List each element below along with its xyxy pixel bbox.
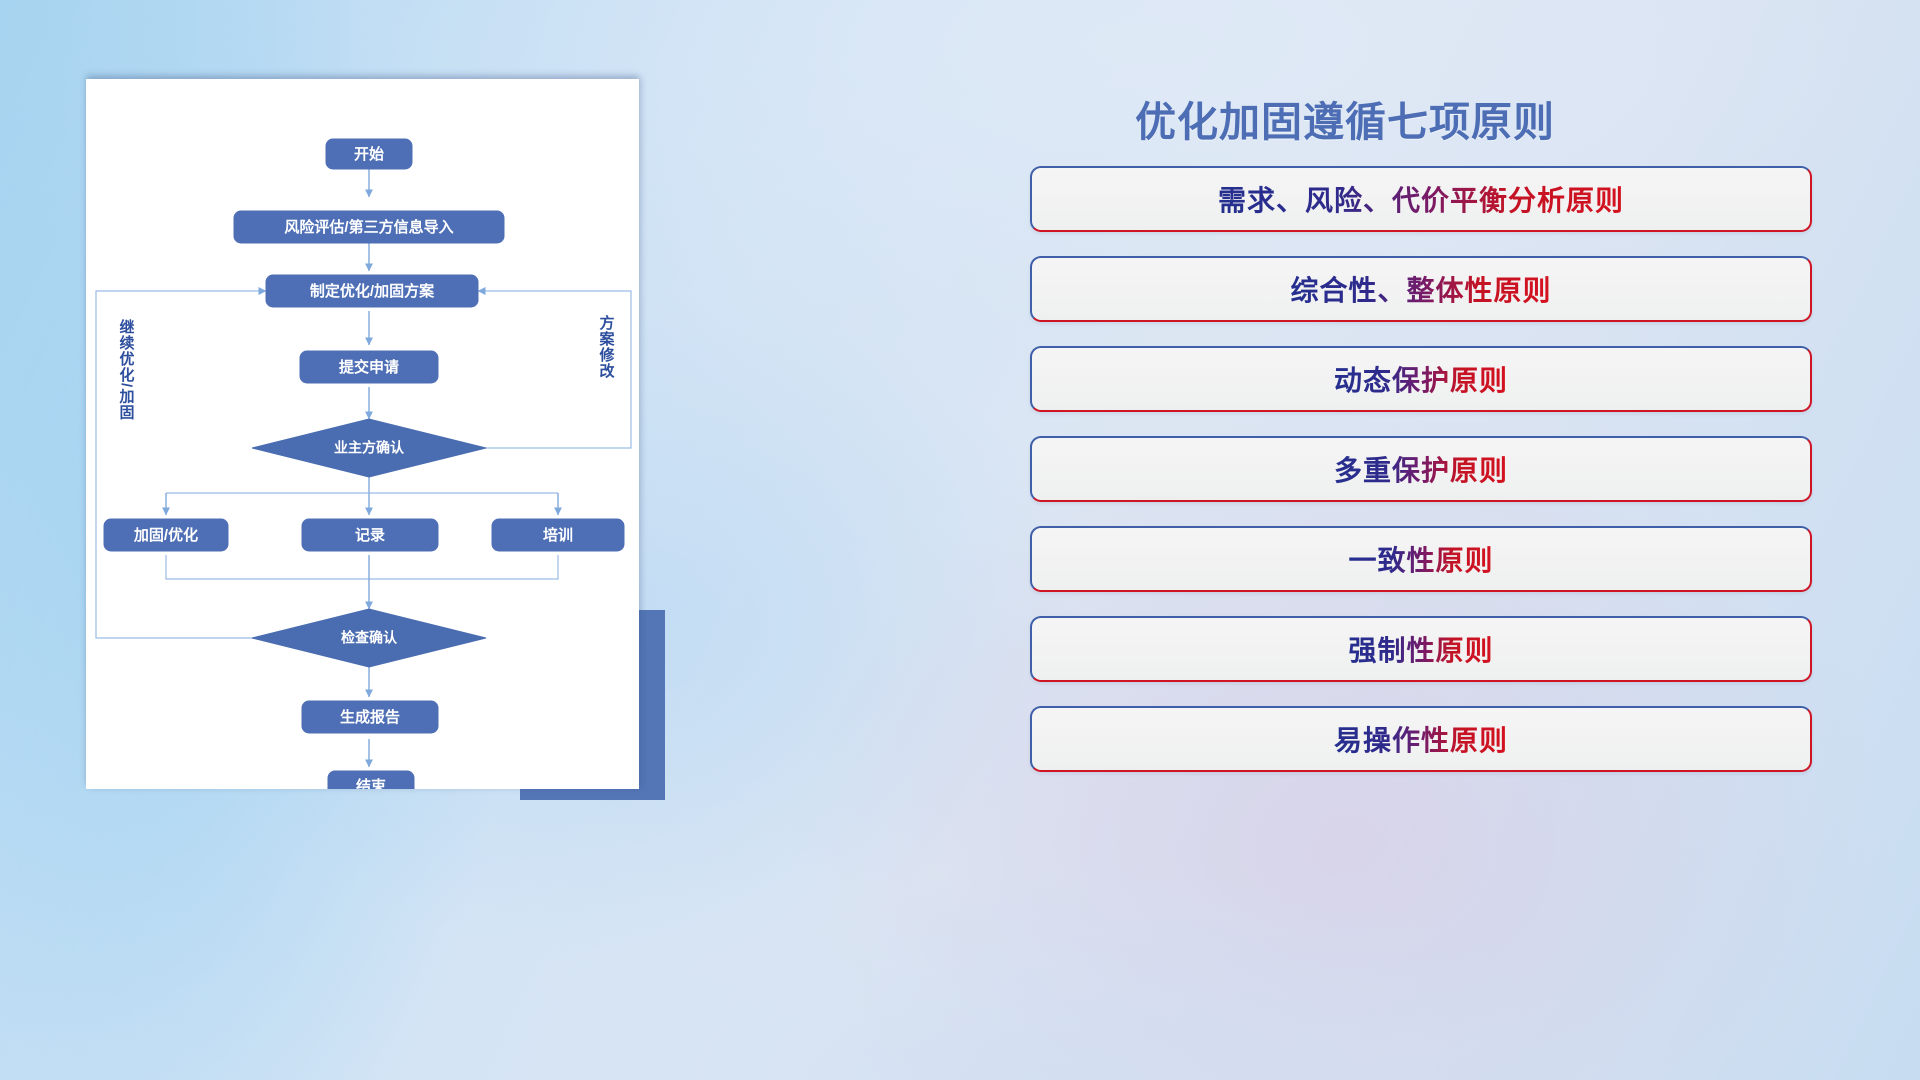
loop-label-right: 方案修改 — [598, 314, 616, 379]
principle-label: 易操作性原则 — [1334, 719, 1508, 759]
principle-card[interactable]: 易操作性原则 — [1030, 706, 1812, 772]
node-reinforce-label: 加固/优化 — [133, 526, 198, 544]
principle-card[interactable]: 一致性原则 — [1030, 526, 1812, 592]
principle-label: 强制性原则 — [1348, 629, 1493, 669]
principles-title: 优化加固遵循七项原则 — [1135, 78, 1832, 148]
node-plan-label: 制定优化/加固方案 — [310, 282, 435, 300]
principles-panel: 优化加固遵循七项原则 需求、风险、代价平衡分析原则 综合性、整体性原则 动态保护… — [1020, 78, 1832, 1018]
node-start-label: 开始 — [354, 145, 384, 163]
node-owner-confirm-label: 业主方确认 — [334, 440, 405, 456]
connector-merge-bar — [166, 555, 558, 579]
node-training-label: 培训 — [543, 526, 573, 544]
loop-label-left: 继续优化/加固 — [118, 318, 136, 420]
node-risk-label: 风险评估/第三方信息导入 — [284, 218, 453, 236]
principle-label: 多重保护原则 — [1334, 449, 1508, 489]
principles-list: 需求、风险、代价平衡分析原则 综合性、整体性原则 动态保护原则 多重保护原则 一… — [1020, 166, 1832, 772]
principle-label: 动态保护原则 — [1334, 359, 1508, 399]
principle-card[interactable]: 需求、风险、代价平衡分析原则 — [1030, 166, 1812, 232]
principle-label: 综合性、整体性原则 — [1290, 269, 1551, 309]
node-record-label: 记录 — [355, 527, 385, 544]
node-check-confirm-label: 检查确认 — [341, 630, 398, 646]
principle-card[interactable]: 强制性原则 — [1030, 616, 1812, 682]
principle-card[interactable]: 多重保护原则 — [1030, 436, 1812, 502]
principle-label: 一致性原则 — [1348, 539, 1493, 579]
node-end-label: 结束 — [356, 777, 387, 789]
node-submit-label: 提交申请 — [339, 358, 399, 376]
principle-card[interactable]: 动态保护原则 — [1030, 346, 1812, 412]
principle-label: 需求、风险、代价平衡分析原则 — [1218, 179, 1624, 219]
node-report-label: 生成报告 — [340, 708, 400, 726]
flowchart-card: 开始 风险评估/第三方信息导入 制定优化/加固方案 提交申请 业主方确认 加固/… — [86, 79, 639, 789]
principle-card[interactable]: 综合性、整体性原则 — [1030, 256, 1812, 322]
flowchart-diagram: 开始 风险评估/第三方信息导入 制定优化/加固方案 提交申请 业主方确认 加固/… — [86, 79, 639, 789]
